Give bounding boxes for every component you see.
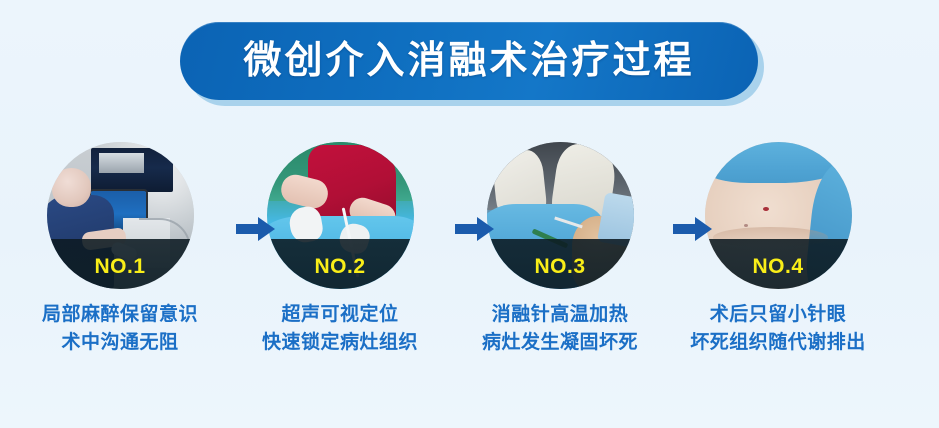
step-caption-2: 超声可视定位 快速锁定病灶组织 (230, 301, 450, 356)
puncture-mark-shape (763, 207, 769, 211)
step-caption-line-2: 术中沟通无阻 (10, 329, 230, 357)
clinician-head-shape (52, 168, 90, 206)
right-arrow-icon (455, 214, 495, 244)
step-card-3: NO.3 消融针高温加热 病灶发生凝固坏死 (450, 138, 670, 356)
arrow-step1-to-step2 (236, 214, 276, 244)
step-photo-4: NO.4 (705, 142, 852, 289)
step-caption-line-1: 术后只留小针眼 (668, 301, 888, 329)
step-caption-line-2: 病灶发生凝固坏死 (450, 329, 670, 357)
step-caption-line-1: 局部麻醉保留意识 (10, 301, 230, 329)
step-caption-line-1: 超声可视定位 (230, 301, 450, 329)
monitor-shape (91, 148, 173, 192)
right-arrow-icon (236, 214, 276, 244)
infographic-poster: 微创介入消融术治疗过程 NO.1 (0, 0, 939, 428)
right-arrow-icon (673, 214, 713, 244)
step-caption-line-2: 快速锁定病灶组织 (230, 329, 450, 357)
step-caption-3: 消融针高温加热 病灶发生凝固坏死 (450, 301, 670, 356)
step-card-2: NO.2 超声可视定位 快速锁定病灶组织 (230, 138, 450, 356)
step-number-band-4: NO.4 (705, 239, 852, 289)
step-photo-3: NO.3 (487, 142, 634, 289)
step-number-band-1: NO.1 (47, 239, 194, 289)
step-number-4: NO.4 (752, 256, 803, 277)
steps-row: NO.1 局部麻醉保留意识 术中沟通无阻 (0, 138, 939, 428)
step-photo-2: NO.2 (267, 142, 414, 289)
step-caption-line-1: 消融针高温加热 (450, 301, 670, 329)
step-caption-4: 术后只留小针眼 坏死组织随代谢排出 (668, 301, 888, 356)
step-number-3: NO.3 (534, 256, 585, 277)
step-card-4: NO.4 术后只留小针眼 坏死组织随代谢排出 (668, 138, 888, 356)
step-caption-1: 局部麻醉保留意识 术中沟通无阻 (10, 301, 230, 356)
title-banner: 微创介入消融术治疗过程 (0, 14, 939, 110)
page-title: 微创介入消融术治疗过程 (243, 42, 694, 80)
step-card-1: NO.1 局部麻醉保留意识 术中沟通无阻 (10, 138, 230, 356)
step-photo-1: NO.1 (47, 142, 194, 289)
arrow-step3-to-step4 (673, 214, 713, 244)
step-number-band-2: NO.2 (267, 239, 414, 289)
step-number-1: NO.1 (94, 256, 145, 277)
step-number-2: NO.2 (314, 256, 365, 277)
arrow-step2-to-step3 (455, 214, 495, 244)
step-caption-line-2: 坏死组织随代谢排出 (668, 329, 888, 357)
title-banner-pill: 微创介入消融术治疗过程 (180, 22, 758, 100)
step-number-band-3: NO.3 (487, 239, 634, 289)
